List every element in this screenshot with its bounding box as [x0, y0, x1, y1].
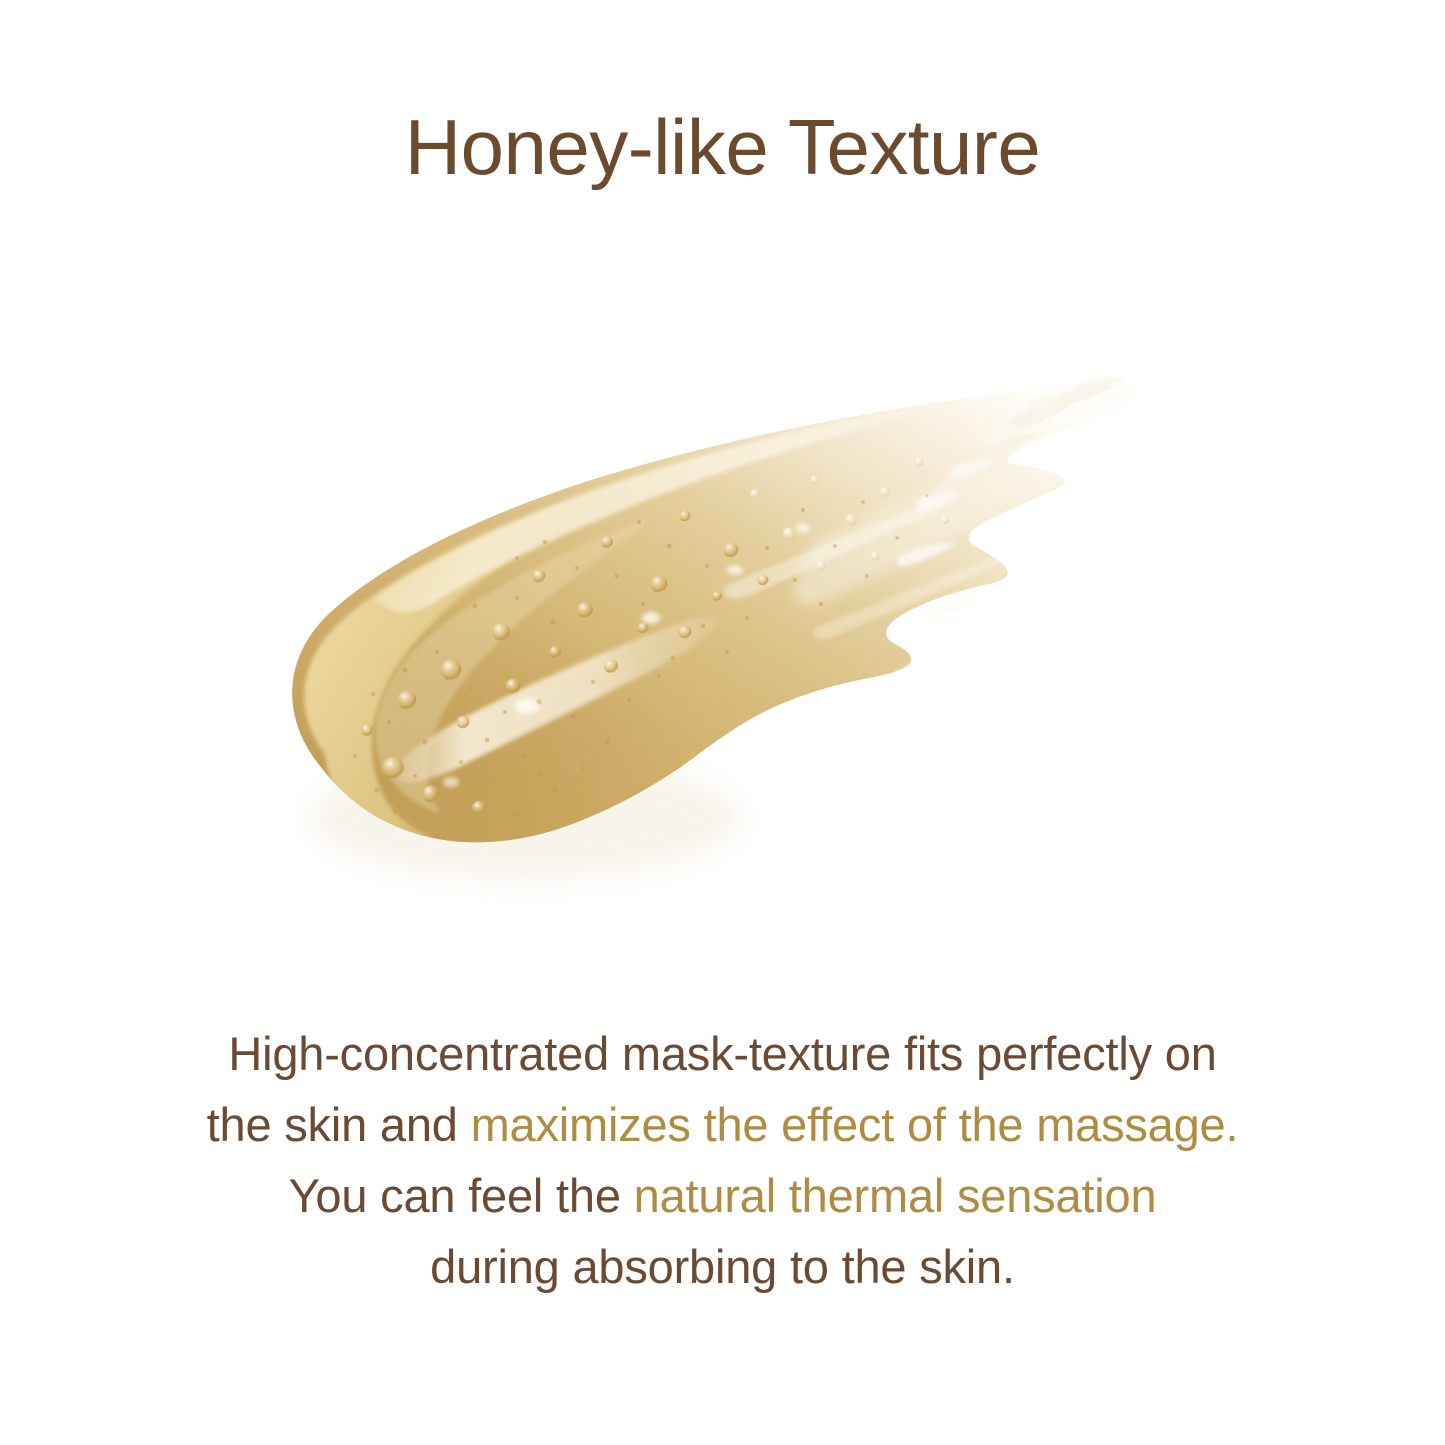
description-line-2-accent: maximizes the effect of the massage. — [471, 1098, 1239, 1151]
honey-texture-swatch — [255, 370, 1155, 930]
description-text: High-concentrated mask-texture fits perf… — [0, 1018, 1445, 1302]
description-line-3-plain: You can feel the — [289, 1169, 634, 1222]
description-line-4: during absorbing to the skin. — [0, 1231, 1445, 1302]
description-line-1: High-concentrated mask-texture fits perf… — [0, 1018, 1445, 1089]
description-line-3: You can feel the natural thermal sensati… — [0, 1160, 1445, 1231]
description-line-3-accent: natural thermal sensation — [634, 1169, 1157, 1222]
product-feature-panel: Honey-like Texture — [0, 0, 1445, 1445]
description-line-2: the skin and maximizes the effect of the… — [0, 1089, 1445, 1160]
page-title: Honey-like Texture — [0, 108, 1445, 186]
description-line-2-plain: the skin and — [207, 1098, 471, 1151]
